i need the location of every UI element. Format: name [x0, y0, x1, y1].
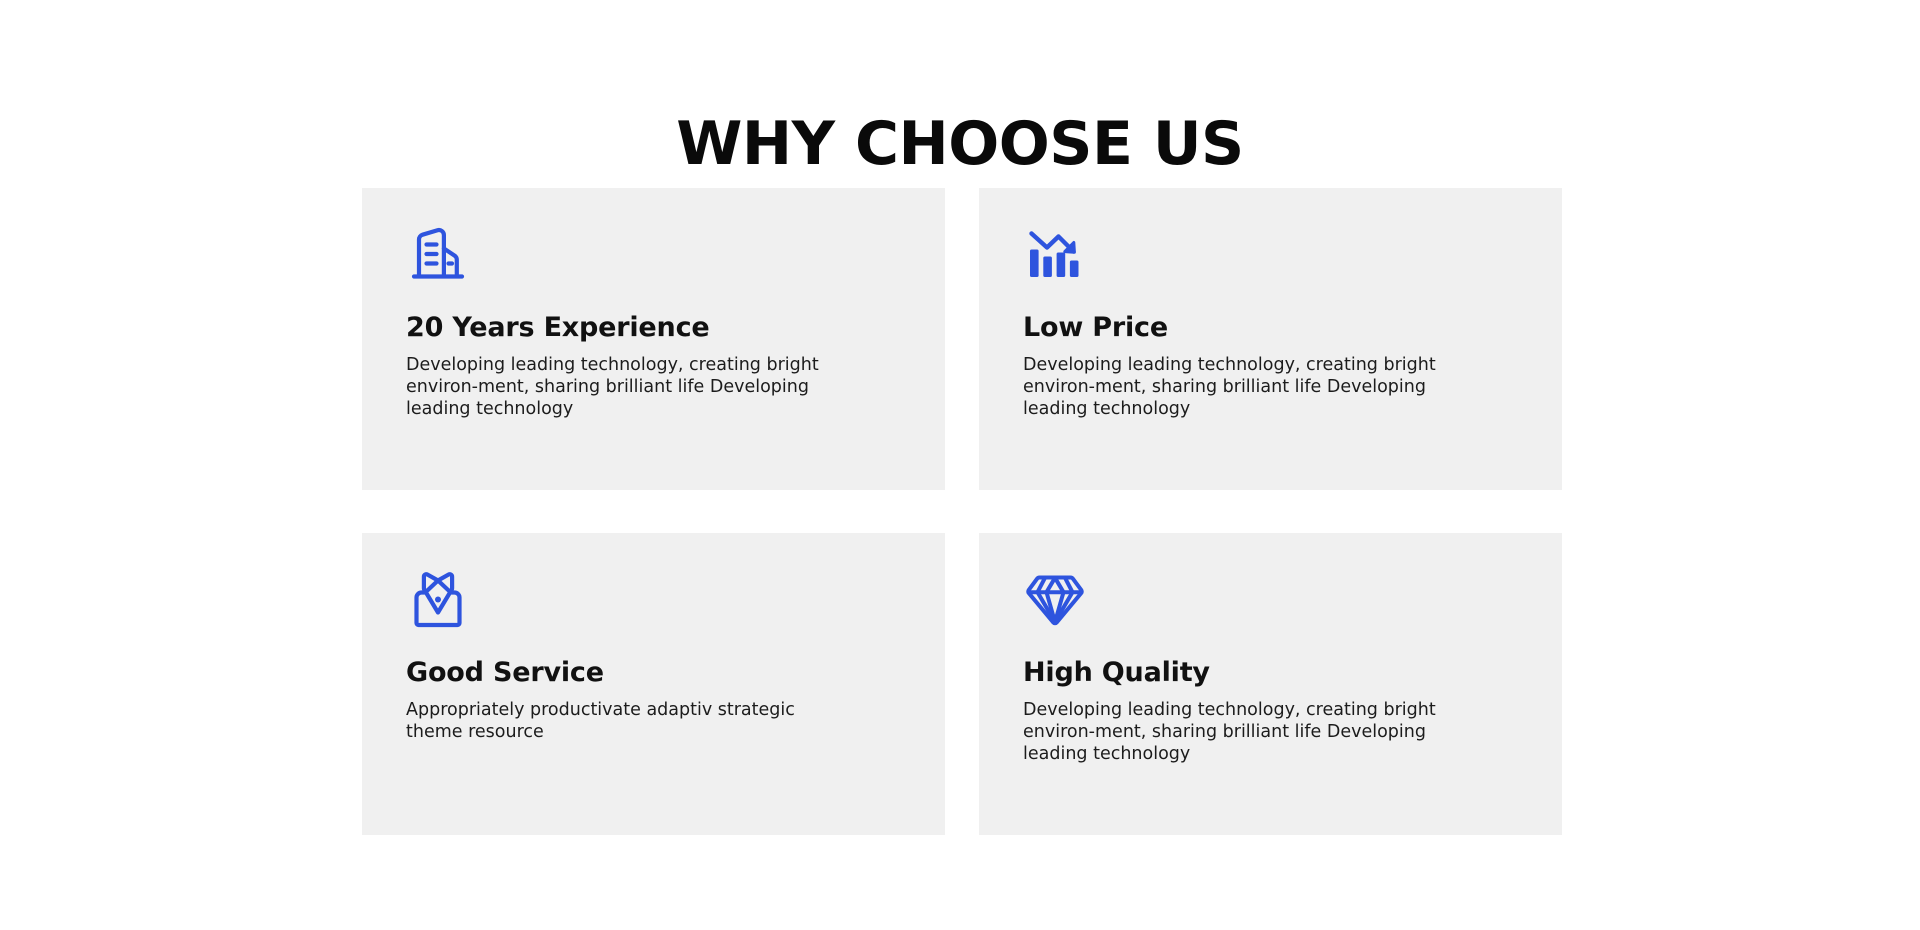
feature-card-grid: 20 Years Experience Developing leading t… — [362, 188, 1562, 835]
feature-card-experience[interactable]: 20 Years Experience Developing leading t… — [362, 188, 945, 490]
card-description: Developing leading technology, creating … — [406, 354, 826, 420]
card-title: 20 Years Experience — [406, 312, 901, 344]
card-title: Good Service — [406, 657, 901, 689]
tuxedo-bowtie-icon — [406, 567, 470, 631]
card-description: Developing leading technology, creating … — [1023, 699, 1443, 765]
card-title: Low Price — [1023, 312, 1518, 344]
bar-chart-decline-icon — [1023, 222, 1087, 286]
card-title: High Quality — [1023, 657, 1518, 689]
why-choose-us-section: WHY CHOOSE US 20 Years Experience Develo… — [0, 0, 1920, 930]
feature-card-high-quality[interactable]: High Quality Developing leading technolo… — [979, 533, 1562, 835]
card-description: Developing leading technology, creating … — [1023, 354, 1443, 420]
building-icon — [406, 222, 470, 286]
page-title: WHY CHOOSE US — [0, 108, 1920, 180]
feature-card-low-price[interactable]: Low Price Developing leading technology,… — [979, 188, 1562, 490]
feature-card-good-service[interactable]: Good Service Appropriately productivate … — [362, 533, 945, 835]
card-description: Appropriately productivate adaptiv strat… — [406, 699, 826, 743]
diamond-icon — [1023, 567, 1087, 631]
